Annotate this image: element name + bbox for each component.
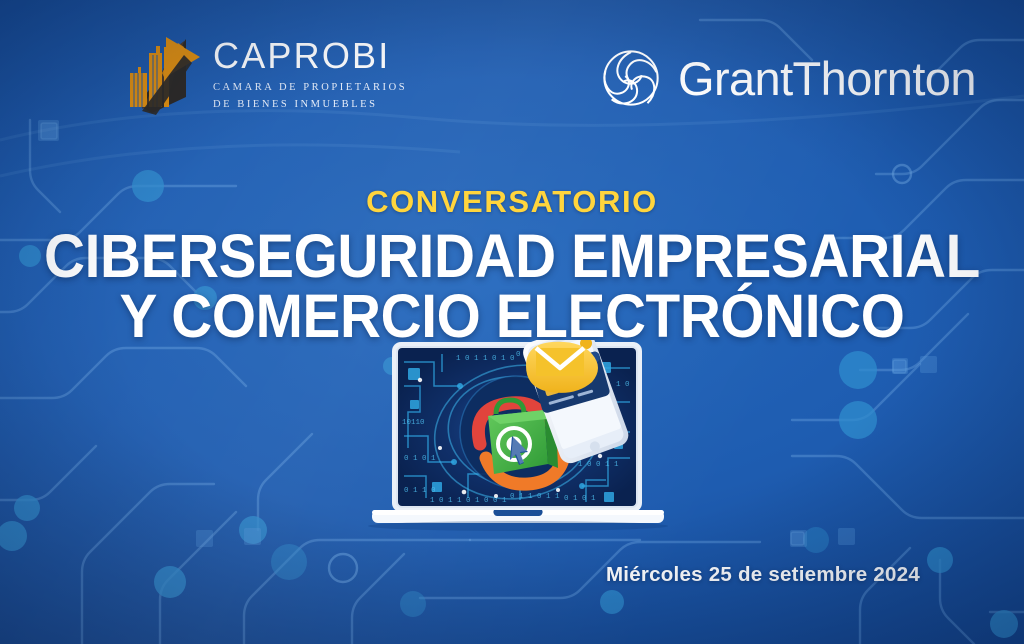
caprobi-buildings-arrow-icon — [112, 33, 204, 118]
svg-text:10110: 10110 — [402, 419, 425, 427]
svg-text:0 1 0 1: 0 1 0 1 — [404, 455, 436, 463]
caprobi-tagline-line1: CAMARA DE PROPIETARIOS — [213, 80, 407, 96]
grant-thornton-logo: GrantThornton — [600, 47, 976, 109]
svg-text:0 1 1 0: 0 1 1 0 — [404, 487, 436, 495]
event-date: Miércoles 25 de setiembre 2024 — [606, 563, 920, 587]
event-banner: CAPROBI CAMARA DE PROPIETARIOS DE BIENES… — [0, 0, 1024, 644]
gt-word-grant: Grant — [678, 52, 793, 105]
title-block: CONVERSATORIO CIBERSEGURIDAD EMPRESARIAL… — [0, 186, 1024, 347]
svg-text:0 1 1 0 1 1: 0 1 1 0 1 1 — [510, 493, 560, 501]
gt-word-thornton: Thornton — [793, 52, 976, 105]
caprobi-wordmark: CAPROBI — [213, 38, 407, 74]
grant-thornton-iris-swirl-icon — [600, 47, 662, 109]
grant-thornton-wordmark: GrantThornton — [678, 55, 976, 102]
logo-row: CAPROBI CAMARA DE PROPIETARIOS DE BIENES… — [0, 0, 1024, 140]
headline-line-2: Y COMERCIO ELECTRÓNICO — [36, 286, 988, 346]
laptop-ecommerce-security-illustration: 10110 0 1 0 1 1 0 1 1 0 1 0 0 1 1 0 0 1 … — [368, 340, 668, 545]
svg-text:0 1 0 1: 0 1 0 1 — [564, 495, 596, 503]
headline-line-1: CIBERSEGURIDAD EMPRESARIAL — [36, 226, 988, 286]
svg-text:1 0: 1 0 — [616, 381, 630, 389]
svg-text:1 0 1 1 0 1 0: 1 0 1 1 0 1 0 — [456, 355, 515, 363]
headline: CIBERSEGURIDAD EMPRESARIAL Y COMERCIO EL… — [36, 226, 988, 347]
caprobi-tagline-line2: DE BIENES INMUEBLES — [213, 97, 407, 113]
kicker-label: CONVERSATORIO — [0, 186, 1024, 219]
caprobi-logo: CAPROBI CAMARA DE PROPIETARIOS DE BIENES… — [112, 33, 407, 118]
